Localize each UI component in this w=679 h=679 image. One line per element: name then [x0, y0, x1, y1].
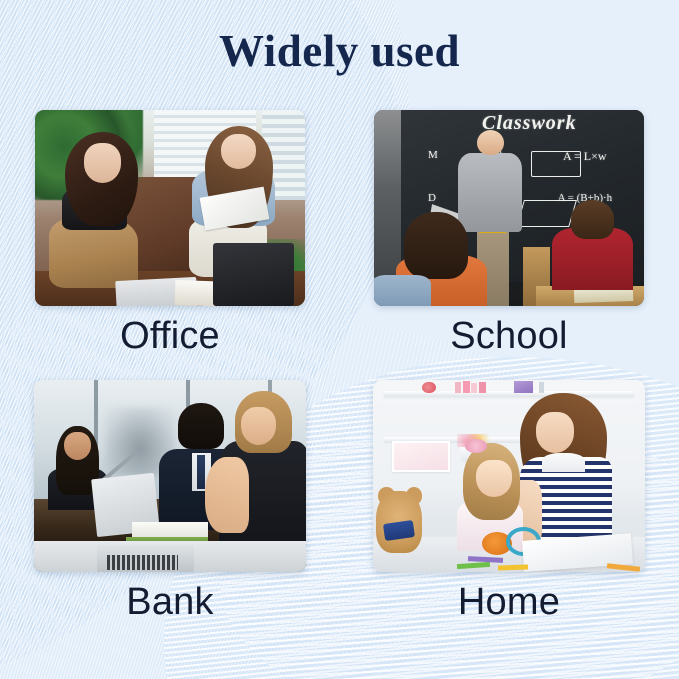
caption-school: School — [450, 316, 567, 358]
scenario-cell-office: Office — [1, 110, 340, 358]
bank-laptop-keyboard — [107, 555, 178, 570]
home-decor-apple — [422, 382, 436, 394]
photo-office — [35, 110, 305, 306]
bank-person3-arm — [205, 457, 249, 534]
caption-home: Home — [458, 582, 560, 624]
school-teacher-head — [477, 130, 504, 155]
caption-bank: Bank — [126, 582, 213, 624]
grid-row-bottom: Bank — [0, 380, 679, 624]
bank-person2-tie — [197, 455, 205, 490]
scenario-cell-bank: Bank — [1, 380, 340, 624]
office-laptop-right — [213, 243, 294, 306]
page-title: Widely used — [0, 26, 679, 78]
usage-scenario-grid: Office Classwork M b·h A = L×w D A = (B+… — [0, 110, 679, 624]
home-book-2 — [463, 381, 470, 393]
photo-bank — [34, 380, 306, 572]
home-girl-face — [476, 460, 511, 496]
home-shelf-top — [384, 391, 634, 397]
home-picture-frame — [392, 441, 450, 472]
home-book-4 — [479, 382, 486, 394]
school-formula-3: A = L×w — [563, 149, 607, 164]
scenario-cell-school: Classwork M b·h A = L×w D A = (B+b)·h — [340, 110, 679, 358]
home-mother-shoulder — [542, 453, 586, 472]
school-formula-1: M — [428, 149, 438, 161]
office-woman2-face — [221, 134, 256, 169]
home-mother-face — [536, 412, 574, 452]
caption-office: Office — [120, 316, 220, 358]
school-student3-shoulder — [374, 275, 431, 306]
home-book-1 — [455, 382, 462, 394]
grid-row-top: Office Classwork M b·h A = L×w D A = (B+… — [0, 110, 679, 358]
home-book-5 — [539, 382, 544, 394]
photo-home — [373, 380, 645, 572]
home-box-purple — [514, 381, 533, 393]
school-teacher-jacket — [458, 153, 523, 231]
office-woman1-face — [84, 143, 122, 182]
home-girl-hair-bow — [465, 439, 487, 452]
school-formula-4: D — [428, 192, 436, 204]
photo-school: Classwork M b·h A = L×w D A = (B+b)·h — [374, 110, 644, 306]
school-student1-hair — [404, 212, 469, 279]
home-book-3 — [471, 383, 477, 394]
scenario-cell-home: Home — [340, 380, 679, 624]
bank-person3-face — [241, 407, 276, 445]
bank-person2-face — [186, 412, 221, 454]
school-student2-hair — [571, 200, 614, 239]
poster-root: Widely used — [0, 0, 679, 679]
